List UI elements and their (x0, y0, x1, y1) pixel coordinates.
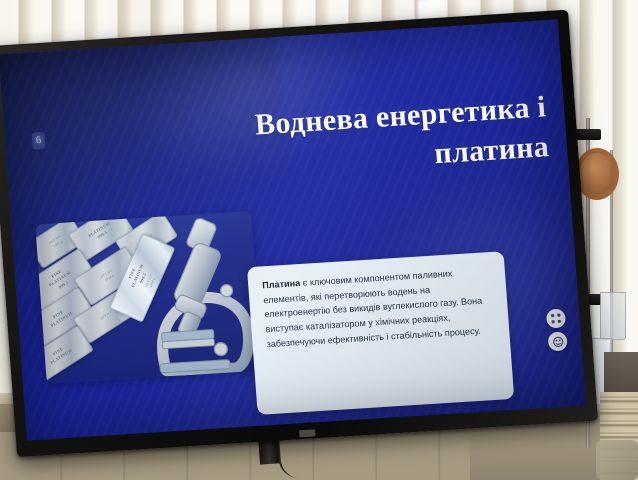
stand-clamp-upper (575, 129, 601, 140)
clock-icon (551, 335, 564, 348)
slide-number-badge: 6 (31, 132, 45, 150)
bar-weight-label: NET WT (99, 310, 112, 321)
grid-icon (550, 313, 562, 325)
slide-title: Воднева енергетика і платина (153, 87, 550, 191)
tv-bezel: 6 Воднева енергетика і платина NET WT 10… (0, 10, 598, 457)
copper-ring-clamp (575, 148, 619, 200)
platinum-bars-and-microscope-image: NET WT 1000 g PLATINUM 999.5 NET WT FINE (35, 211, 262, 384)
body-lead-word: Платина (262, 278, 301, 290)
floor-object (596, 440, 638, 480)
photo-scene: 6 Воднева енергетика і платина NET WT 10… (0, 0, 638, 480)
pointer-options-button[interactable] (548, 331, 568, 351)
grid-view-button[interactable] (546, 308, 566, 328)
beaker (600, 292, 626, 340)
slide-body-card: Платина є ключовим компонентом паливних … (247, 251, 514, 415)
tv-brand-logo (299, 429, 315, 437)
presentation-slide[interactable]: 6 Воднева енергетика і платина NET WT 10… (0, 19, 586, 440)
television: 6 Воднева енергетика і платина NET WT 10… (0, 10, 598, 457)
